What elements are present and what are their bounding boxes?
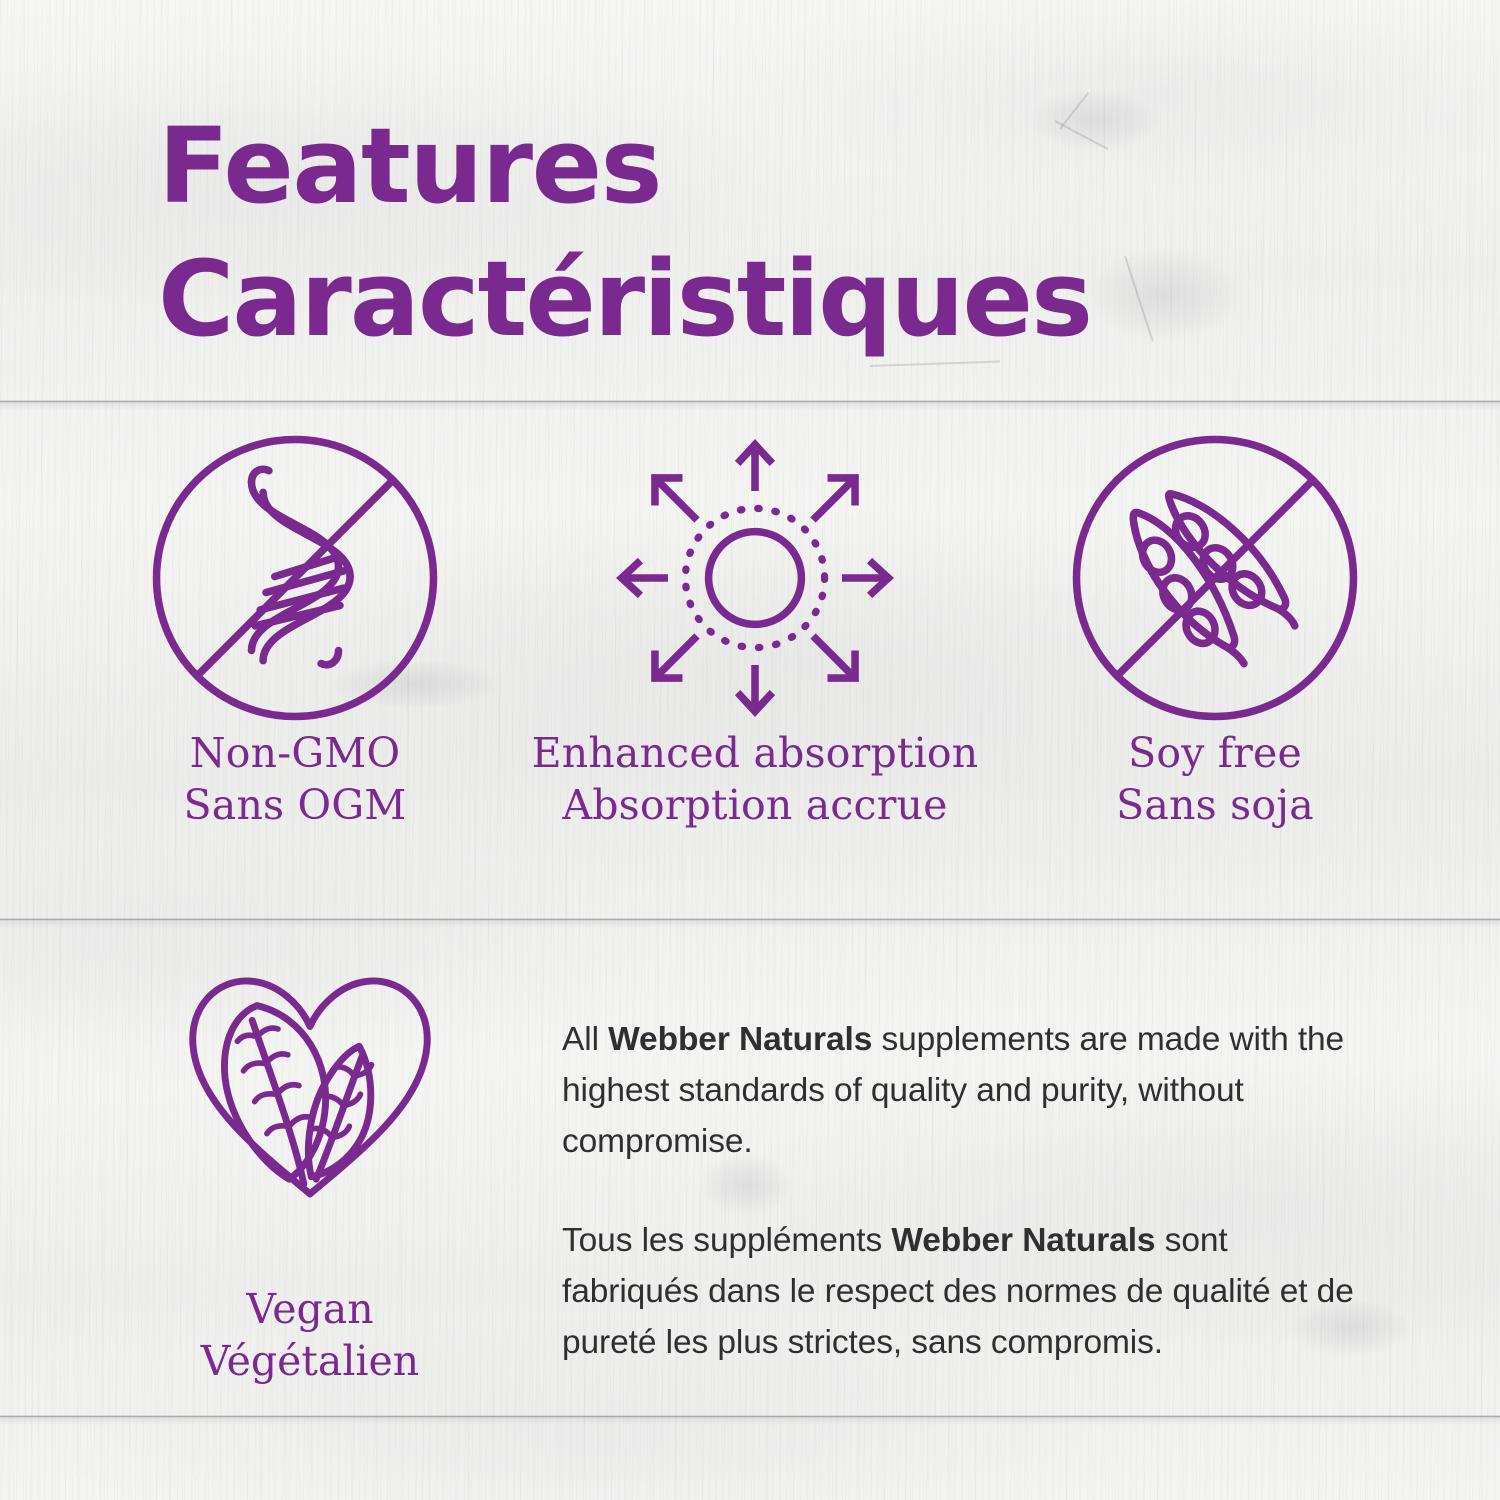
icon-container xyxy=(525,428,985,728)
feature-label: Non-GMO Sans OGM xyxy=(65,728,525,831)
paragraph-fr-before: Tous les suppléments xyxy=(562,1222,891,1259)
feature-label-en: Soy free xyxy=(985,728,1445,780)
feature-label-en: Non-GMO xyxy=(65,728,525,780)
brand-name-fr: Webber Naturals xyxy=(891,1222,1155,1259)
page-title-line-en: Features xyxy=(158,100,1091,233)
icon-container xyxy=(65,428,525,728)
description-block: All Webber Naturals supplements are made… xyxy=(562,1015,1372,1368)
icon-container xyxy=(130,960,490,1210)
feature-enhanced-absorption: Enhanced absorption Absorption accrue xyxy=(525,428,985,831)
feature-non-gmo: Non-GMO Sans OGM xyxy=(65,428,525,831)
features-row: Non-GMO Sans OGM xyxy=(0,428,1500,868)
brand-name-en: Webber Naturals xyxy=(608,1021,872,1058)
feature-label-en: Enhanced absorption xyxy=(525,728,985,780)
icon-container xyxy=(985,428,1445,728)
feature-panel: Features Caractéristiques xyxy=(0,0,1500,1500)
feature-label-fr: Végétalien xyxy=(130,1336,490,1388)
feature-soy-free: Soy free Sans soja xyxy=(985,428,1445,831)
feature-label: Enhanced absorption Absorption accrue xyxy=(525,728,985,831)
feature-label-fr: Sans OGM xyxy=(65,780,525,832)
feature-label: Soy free Sans soja xyxy=(985,728,1445,831)
page-title-line-fr: Caractéristiques xyxy=(158,233,1091,366)
feature-label-fr: Absorption accrue xyxy=(525,780,985,832)
feature-vegan: Vegan Végétalien xyxy=(130,960,490,1387)
enhanced-absorption-arrows-icon xyxy=(610,433,900,723)
paragraph-en-before: All xyxy=(562,1021,608,1058)
paragraph-fr: Tous les suppléments Webber Naturals son… xyxy=(562,1216,1372,1369)
no-gmo-dna-icon xyxy=(150,433,440,723)
page-title: Features Caractéristiques xyxy=(158,100,1091,366)
feature-label-fr: Sans soja xyxy=(985,780,1445,832)
paragraph-en: All Webber Naturals supplements are made… xyxy=(562,1015,1372,1168)
soy-free-pods-icon xyxy=(1070,433,1360,723)
heart-leaves-icon xyxy=(180,965,440,1205)
feature-label: Vegan Végétalien xyxy=(130,1284,490,1387)
feature-label-en: Vegan xyxy=(130,1284,490,1336)
